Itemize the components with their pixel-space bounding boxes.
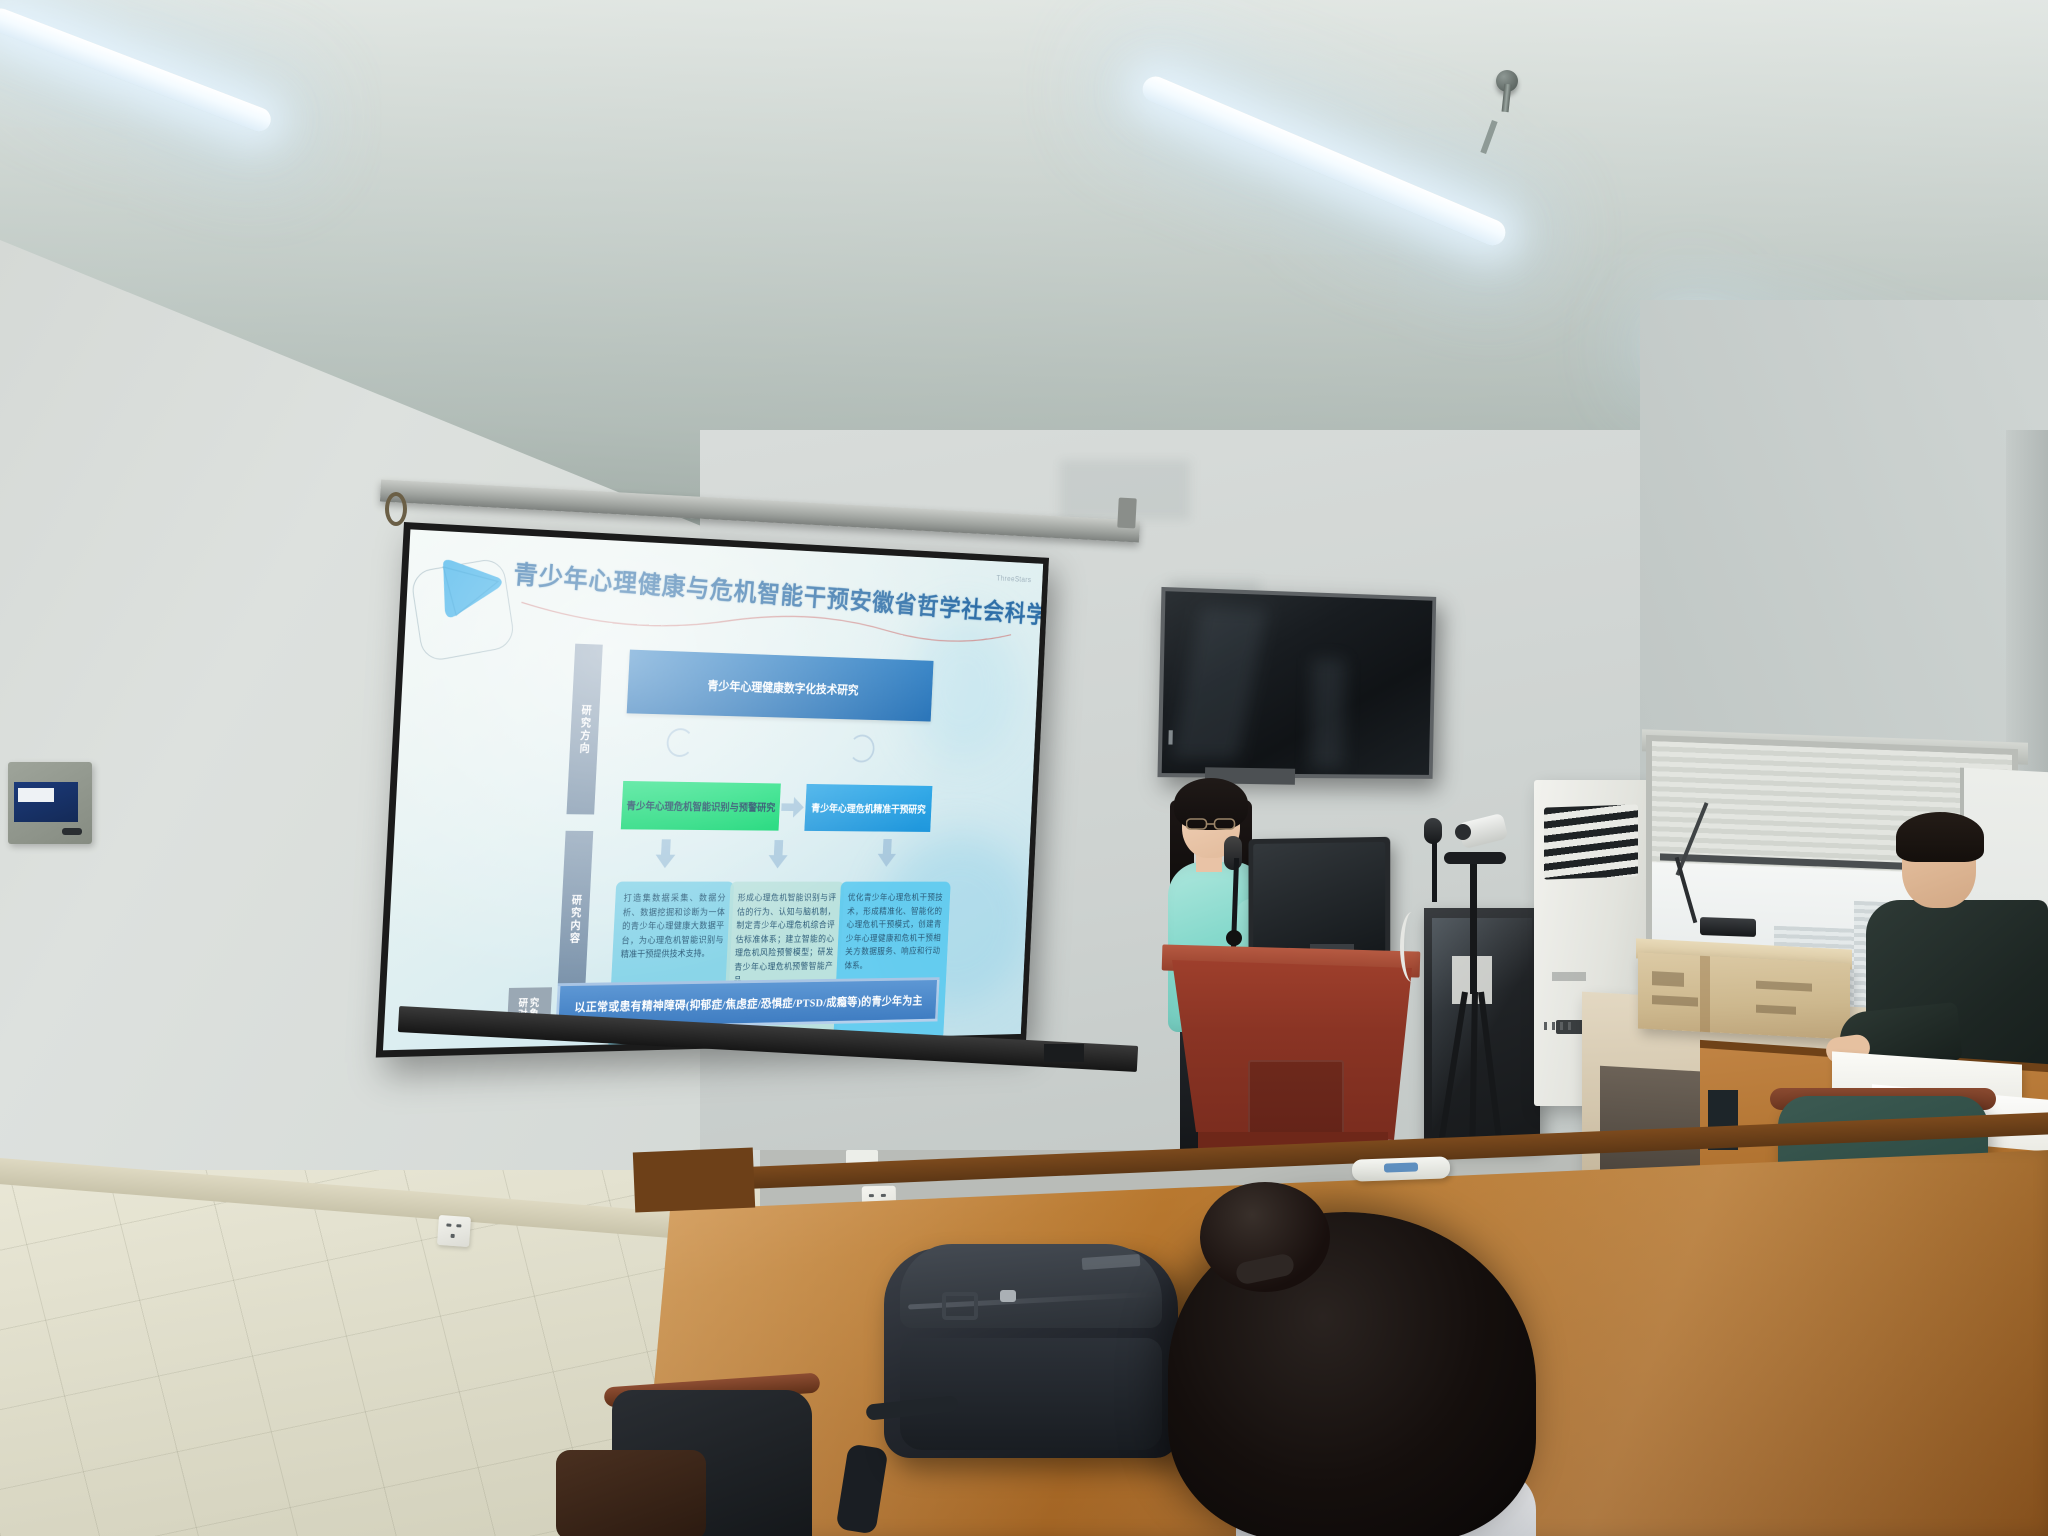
down-arrow-1-icon (655, 839, 676, 868)
ptz-camera-lens (1455, 824, 1471, 840)
dark-wall-recess (1044, 1044, 1084, 1062)
projected-slide: 青少年心理健康与危机智能干预安徽省哲学社会科学重点实验室 ThreeStars … (383, 529, 1043, 1050)
box-tape-strip (1700, 956, 1710, 1033)
box-print-c (1756, 981, 1812, 992)
outlet-hole-b (456, 1224, 461, 1227)
seated-man-hair (1896, 812, 1984, 862)
microphone-clamp-knob (1226, 930, 1242, 946)
box-print-b (1652, 995, 1698, 1006)
conference-room-photo: 青少年心理健康与危机智能干预安徽省哲学社会科学重点实验室 ThreeStars … (0, 0, 2048, 1536)
table-side-face (633, 1148, 755, 1213)
down-arrow-3-icon (877, 839, 897, 867)
label-research-direction: 研究方向 (566, 644, 602, 815)
foreground-chair-seat[interactable] (556, 1450, 706, 1536)
projection-screen[interactable]: 青少年心理健康与危机智能干预安徽省哲学社会科学重点实验室 ThreeStars … (376, 522, 1049, 1058)
outlet2-hole-a (869, 1194, 874, 1197)
lectern-monitor-screen (1253, 842, 1385, 954)
tv-power-led (1168, 730, 1172, 744)
conference-desk-microphone[interactable] (1700, 917, 1756, 937)
screen-mount-endcap (1117, 498, 1137, 529)
lectern-front-panel (1248, 1060, 1344, 1142)
label-research-object-line1: 研究 (518, 998, 541, 1010)
white-power-cable (1400, 912, 1424, 982)
box-print-a (1652, 971, 1684, 987)
cardboard-box (1638, 952, 1850, 1039)
air-conditioner-vent-grille (1544, 804, 1638, 879)
wall-outlet-left[interactable] (437, 1215, 471, 1247)
secondary-microphone-head (1424, 818, 1442, 844)
backpack-front-pocket (900, 1338, 1162, 1450)
air-conditioner-logo (1552, 972, 1586, 981)
control-panel-slot (62, 828, 82, 835)
tv-reflection-b (1310, 658, 1345, 768)
down-arrow-2-icon (768, 840, 788, 868)
box-print-d (1756, 1005, 1796, 1015)
presenter-glasses-icon (1186, 818, 1236, 831)
direction-box-digital-tech: 青少年心理健康数字化技术研究 (627, 650, 934, 722)
backpack-buckle (942, 1292, 978, 1320)
outlet-hole-c (451, 1234, 455, 1238)
slide-canvas: 青少年心理健康与危机智能干预安徽省哲学社会科学重点实验室 ThreeStars … (383, 529, 1043, 1050)
screen-mount-hook (385, 492, 407, 526)
lectern-monitor[interactable] (1249, 837, 1391, 959)
control-panel-label-strip (18, 788, 54, 802)
air-conditioner-indicator-lights (1544, 1022, 1572, 1030)
remote-button-strip (1384, 1162, 1418, 1172)
outlet2-hole-b (881, 1194, 886, 1197)
tv-screen (1162, 591, 1433, 775)
outlet-hole-a (446, 1223, 451, 1226)
cycle-arrow-left-icon (666, 728, 694, 757)
tv-reflection-a (1171, 607, 1267, 760)
right-arrow-icon (781, 797, 804, 818)
cycle-arrow-right-icon (849, 734, 876, 762)
tripod-head-plate (1444, 852, 1506, 864)
direction-box-precise-intervention: 青少年心理危机精准干预研究 (804, 784, 932, 832)
direction-box-smart-identification: 青少年心理危机智能识别与预警研究 (621, 781, 781, 831)
triangle-logo-icon (433, 555, 507, 623)
wall-mounted-tv[interactable] (1157, 587, 1436, 779)
screen-brand-label: ThreeStars (996, 574, 1031, 584)
tripod-center-column (1470, 862, 1477, 994)
backpack-zipper-pull[interactable] (1000, 1290, 1016, 1302)
